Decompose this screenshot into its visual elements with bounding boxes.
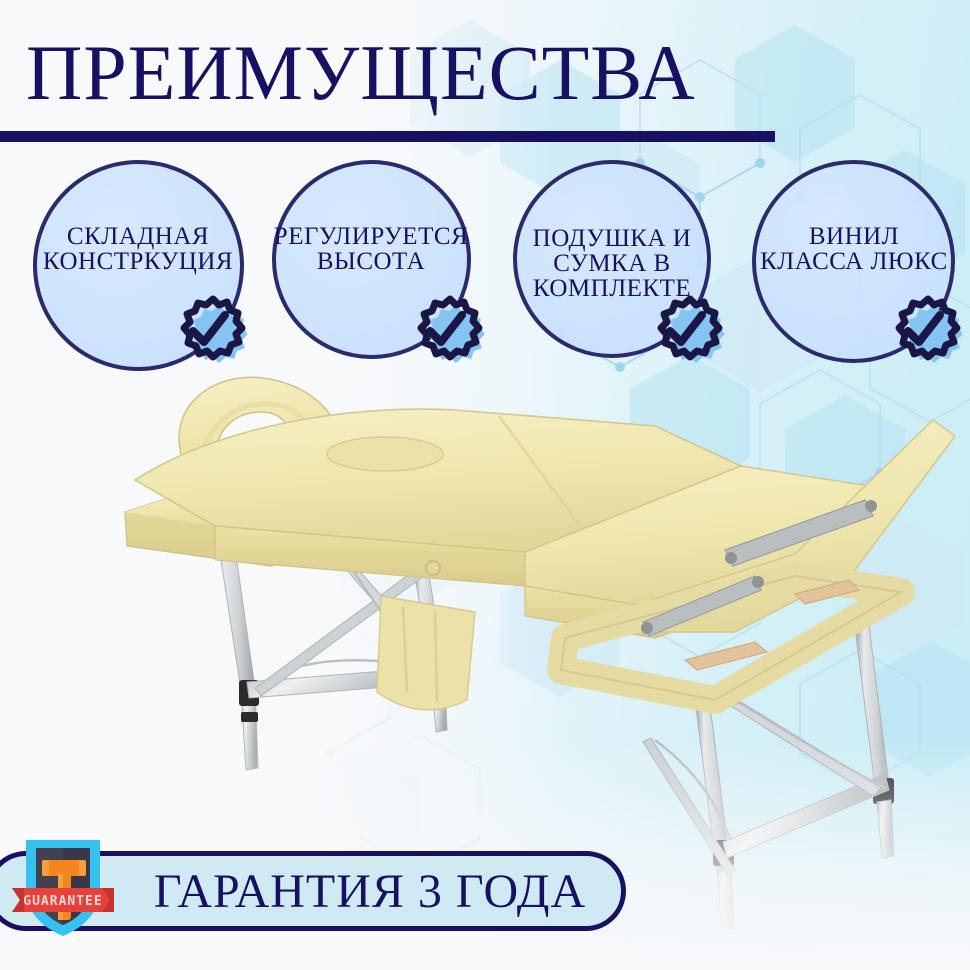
check-badge-icon-pillow-and-bag — [650, 293, 724, 367]
feature-label-luxury-vinyl: ВИНИЛ КЛАССА ЛЮКС — [714, 224, 970, 274]
guarantee-ribbon-text: GUARANTEE — [23, 894, 102, 909]
feature-label-adjustable-height: РЕГУЛИРУЕТСЯ ВЫСОТА — [231, 224, 511, 274]
infographic-canvas: ПРЕИМУЩЕСТВА — [0, 0, 970, 970]
check-badge-icon-luxury-vinyl — [888, 293, 962, 367]
feature-label-pillow-and-bag: ПОДУШКА И СУМКА В КОМПЛЕКТЕ — [472, 226, 752, 301]
guarantee-shield-icon: GUARANTEE — [8, 826, 118, 942]
page-title: ПРЕИМУЩЕСТВА — [26, 32, 696, 114]
title-underline-rule — [0, 131, 775, 142]
check-badge-icon-adjustable-height — [410, 293, 484, 367]
page-header: ПРЕИМУЩЕСТВА — [0, 18, 970, 138]
check-badge-icon-folding-construction — [173, 293, 247, 367]
guarantee-label: ГАРАНТИЯ 3 ГОДА — [120, 866, 620, 918]
